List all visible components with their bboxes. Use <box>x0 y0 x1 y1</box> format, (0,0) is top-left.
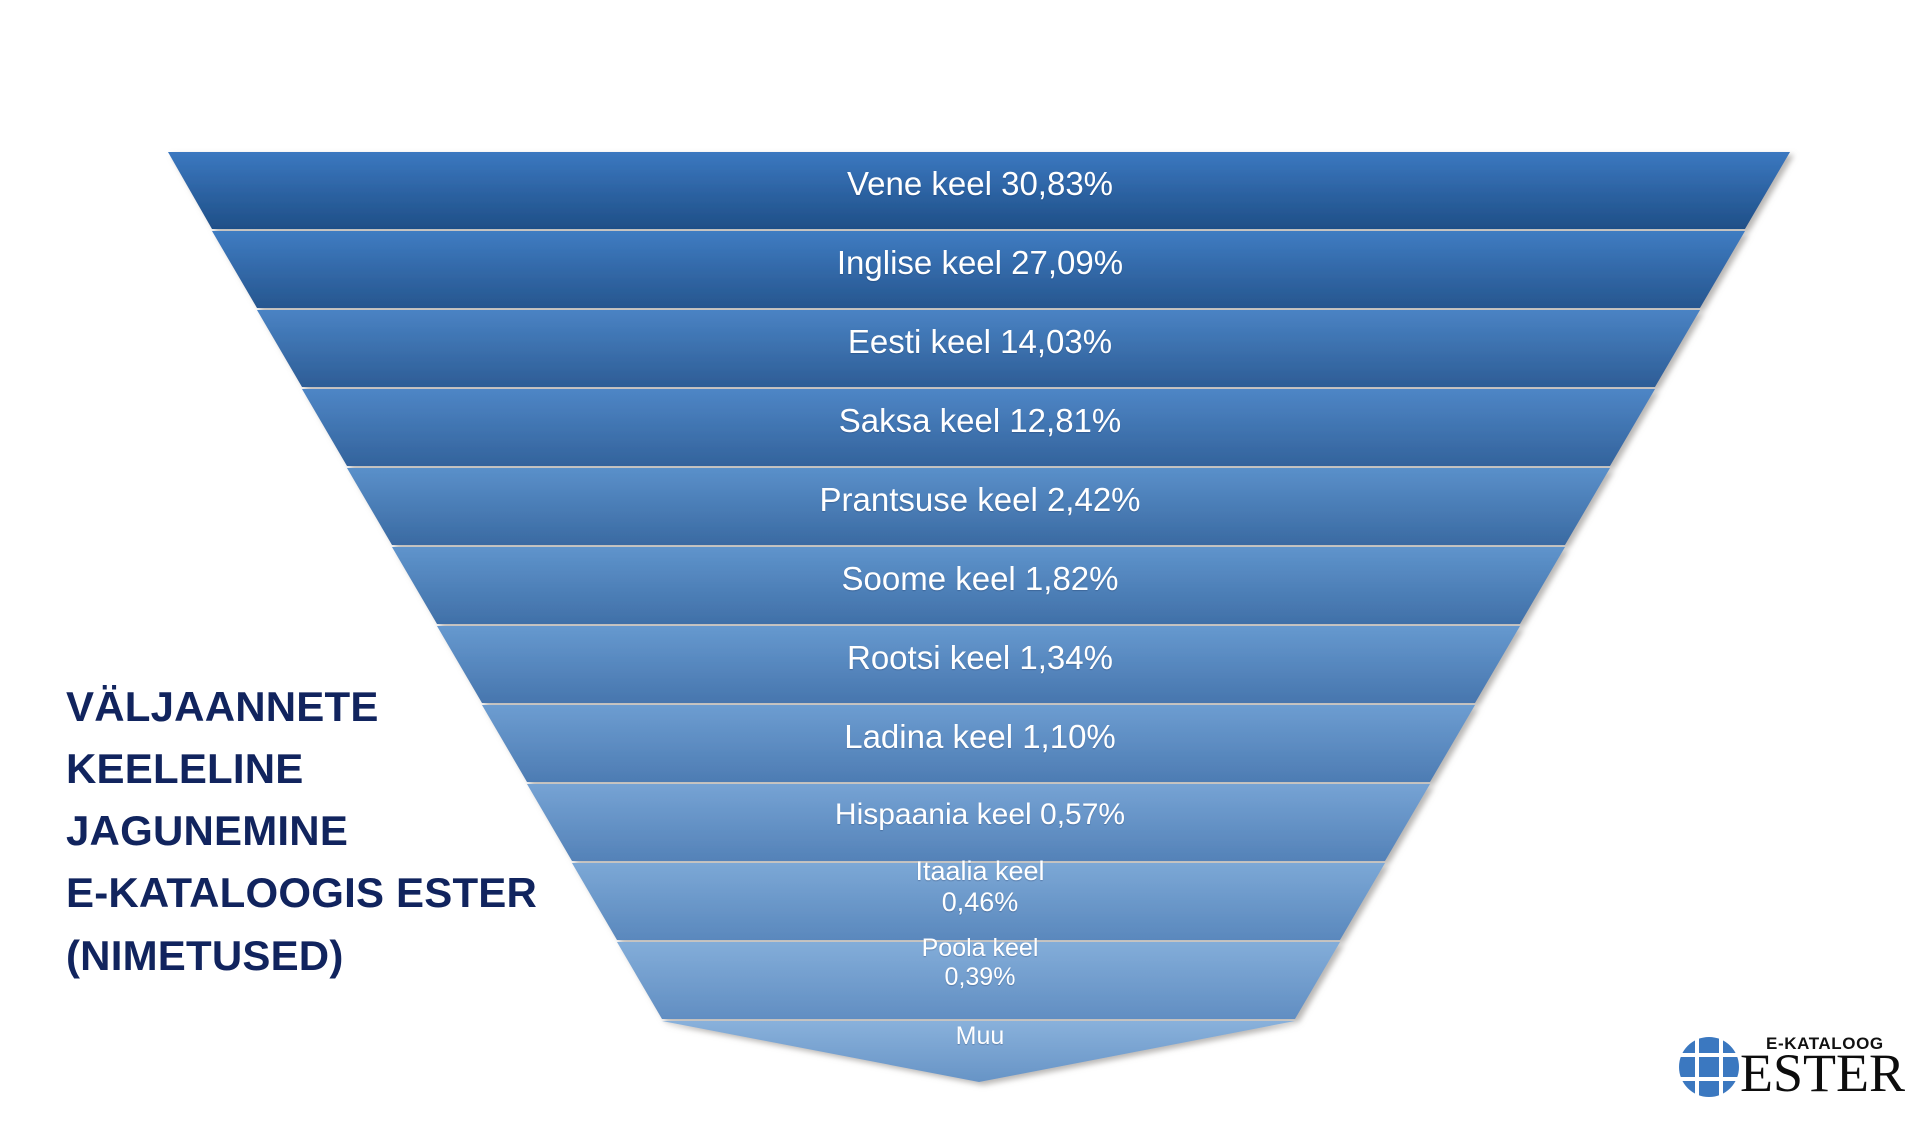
page-title-line-4: E-KATALOOGIS ESTER <box>66 862 706 924</box>
page-title-line-1: VÄLJAANNETE <box>66 676 706 738</box>
ester-logo-wordmark: ESTER <box>1740 1046 1905 1100</box>
funnel-label-prantsuse-keel: Prantsuse keel 2,42% <box>660 481 1300 519</box>
page-title: VÄLJAANNETE KEELELINE JAGUNEMINE E-KATAL… <box>66 676 706 987</box>
funnel-label-ladina-keel: Ladina keel 1,10% <box>660 718 1300 756</box>
slide-canvas: Vene keel 30,83% Inglise keel 27,09% Ees… <box>0 0 1920 1134</box>
ester-globe-grid-icon <box>1678 1036 1740 1098</box>
funnel-band-6 <box>392 547 1565 624</box>
funnel-band-4 <box>302 389 1655 466</box>
funnel-label-vene-keel: Vene keel 30,83% <box>660 165 1300 203</box>
funnel-label-hispaania-keel: Hispaania keel 0,57% <box>660 798 1300 832</box>
funnel-band-2 <box>212 231 1745 308</box>
ester-logo-text: E-KATALOOG ESTER <box>1740 1032 1900 1104</box>
funnel-band-5 <box>347 468 1610 545</box>
funnel-label-muu: Muu <box>760 1022 1200 1051</box>
funnel-label-rootsi-keel: Rootsi keel 1,34% <box>660 639 1300 677</box>
page-title-line-2: KEELELINE <box>66 738 706 800</box>
funnel-label-eesti-keel: Eesti keel 14,03% <box>660 323 1300 361</box>
funnel-band-12 <box>662 1021 1295 1082</box>
funnel-label-saksa-keel: Saksa keel 12,81% <box>660 402 1300 440</box>
funnel-band-11 <box>617 942 1340 1019</box>
funnel-band-3 <box>257 310 1700 387</box>
funnel-label-itaalia-keel: Itaalia keel 0,46% <box>700 856 1260 918</box>
page-title-line-5: (NIMETUSED) <box>66 925 706 987</box>
funnel-band-1 <box>168 152 1790 229</box>
page-title-line-3: JAGUNEMINE <box>66 800 706 862</box>
funnel-label-soome-keel: Soome keel 1,82% <box>660 560 1300 598</box>
ester-logo: E-KATALOOG ESTER <box>1678 1032 1898 1106</box>
funnel-label-inglise-keel: Inglise keel 27,09% <box>660 244 1300 282</box>
funnel-label-poola-keel: Poola keel 0,39% <box>710 934 1250 991</box>
